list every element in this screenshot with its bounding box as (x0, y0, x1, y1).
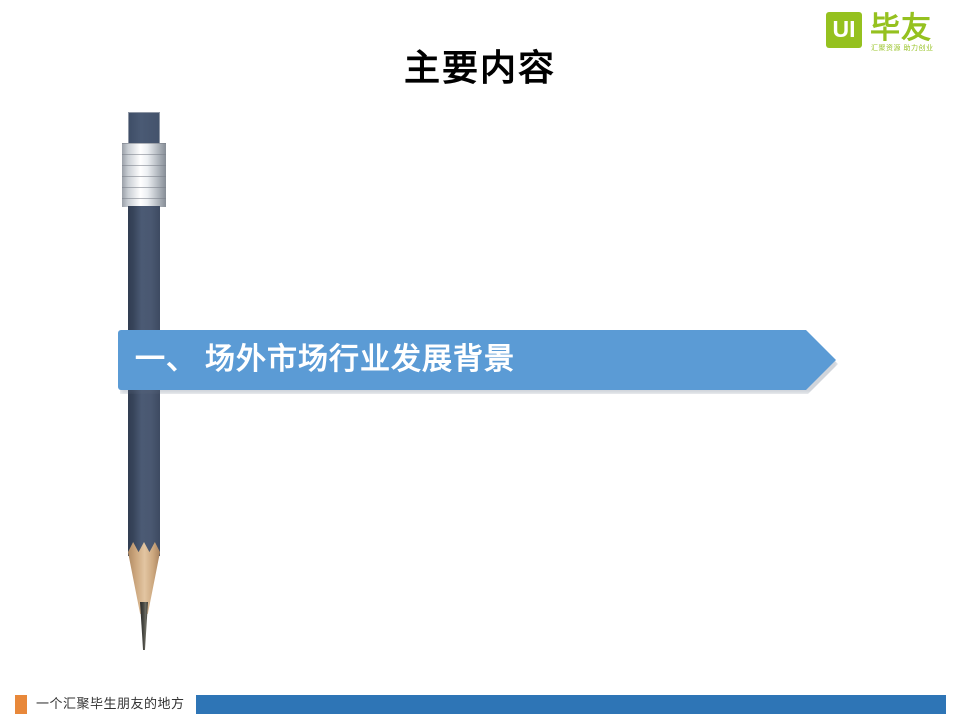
logo-wordmark: 毕友 (870, 12, 932, 46)
logo-mark-icon: UI (826, 12, 862, 48)
pencil-lead-icon (140, 602, 148, 650)
slide-footer: 一个汇聚毕生朋友的地方 (0, 692, 960, 720)
pencil-eraser-icon (128, 112, 160, 144)
banner-label: 场外市场行业发展背景 (205, 330, 515, 390)
footer-tagline: 一个汇聚毕生朋友的地方 (36, 693, 185, 715)
banner-number: 一、 (135, 330, 197, 390)
footer-bar (196, 695, 946, 714)
pencil-ferrule-icon (122, 143, 166, 207)
logo-mark-text: UI (833, 18, 856, 41)
footer-bullet-icon (15, 695, 27, 714)
agenda-item-1[interactable]: 一、 场外市场行业发展背景 (118, 330, 836, 390)
slide-canvas: UI 毕友 汇聚资源 助力创业 主要内容 一、 场外市场行业发展背景 一个汇聚毕… (0, 0, 960, 720)
page-title: 主要内容 (0, 46, 960, 90)
